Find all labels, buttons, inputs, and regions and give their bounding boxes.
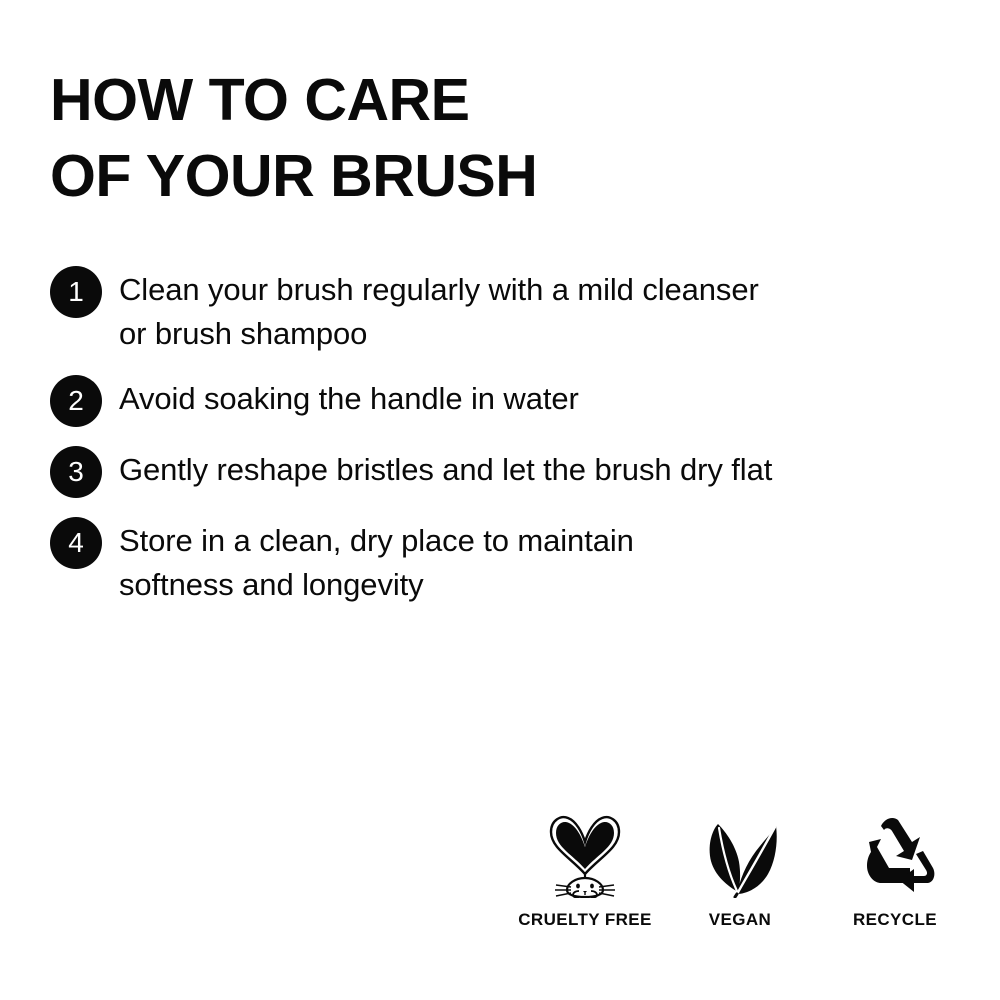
list-item: 1 Clean your brush regularly with a mild… bbox=[50, 268, 950, 356]
page-title: HOW TO CARE OF YOUR BRUSH bbox=[50, 62, 930, 214]
badge-label: VEGAN bbox=[709, 910, 771, 930]
certification-badges: CRUELTY FREE VEGAN bbox=[520, 812, 960, 930]
step-text: Clean your brush regularly with a mild c… bbox=[102, 268, 950, 356]
badge-label: RECYCLE bbox=[853, 910, 937, 930]
recycle-icon bbox=[851, 812, 939, 898]
badge-label: CRUELTY FREE bbox=[518, 910, 652, 930]
badge-cruelty-free: CRUELTY FREE bbox=[520, 812, 650, 930]
step-text-line-2: softness and longevity bbox=[119, 563, 950, 607]
step-text: Avoid soaking the handle in water bbox=[102, 377, 950, 421]
care-steps-list: 1 Clean your brush regularly with a mild… bbox=[50, 268, 950, 607]
leaves-icon bbox=[696, 812, 784, 898]
step-text: Store in a clean, dry place to maintain … bbox=[102, 519, 950, 607]
step-number-badge: 4 bbox=[50, 517, 102, 569]
step-number-badge: 3 bbox=[50, 446, 102, 498]
step-number-badge: 1 bbox=[50, 266, 102, 318]
bunny-heart-icon bbox=[541, 812, 629, 898]
step-text-line-1: Gently reshape bristles and let the brus… bbox=[119, 452, 772, 487]
list-item: 4 Store in a clean, dry place to maintai… bbox=[50, 519, 950, 607]
step-text-line-1: Store in a clean, dry place to maintain bbox=[119, 523, 634, 558]
step-text-line-1: Avoid soaking the handle in water bbox=[119, 381, 579, 416]
list-item: 3 Gently reshape bristles and let the br… bbox=[50, 448, 950, 498]
step-text: Gently reshape bristles and let the brus… bbox=[102, 448, 950, 492]
page-title-line-1: HOW TO CARE bbox=[50, 62, 930, 138]
step-number-badge: 2 bbox=[50, 375, 102, 427]
care-instructions-card: HOW TO CARE OF YOUR BRUSH 1 Clean your b… bbox=[0, 0, 1000, 1000]
list-item: 2 Avoid soaking the handle in water bbox=[50, 377, 950, 427]
step-text-line-2: or brush shampoo bbox=[119, 312, 950, 356]
badge-recycle: RECYCLE bbox=[830, 812, 960, 930]
step-text-line-1: Clean your brush regularly with a mild c… bbox=[119, 272, 759, 307]
badge-vegan: VEGAN bbox=[675, 812, 805, 930]
page-title-line-2: OF YOUR BRUSH bbox=[50, 138, 930, 214]
